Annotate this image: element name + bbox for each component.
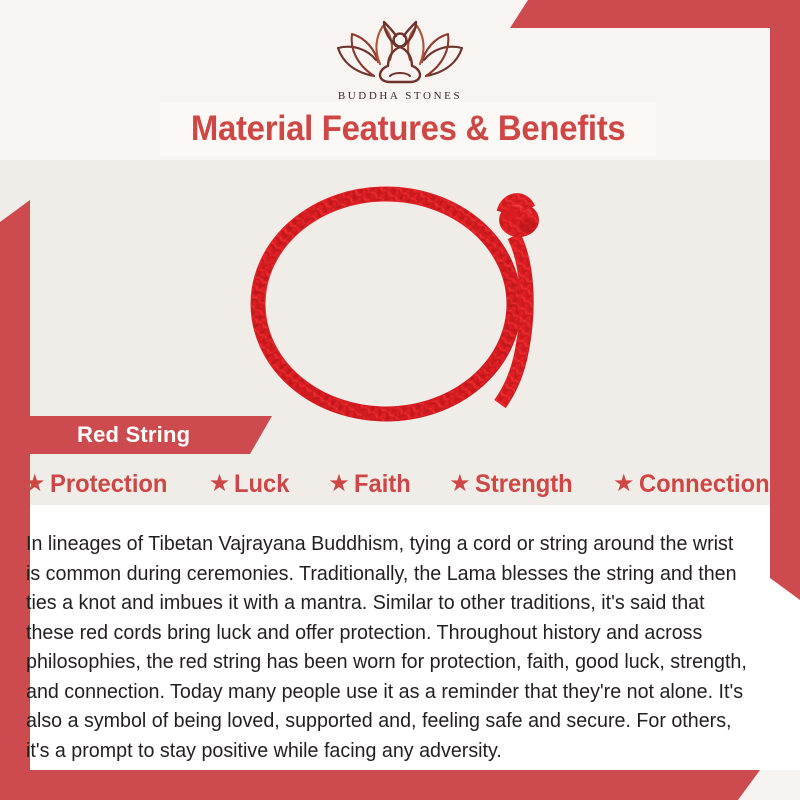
benefit-item: ★ Luck	[209, 472, 293, 497]
benefit-label: Connection	[639, 472, 770, 497]
star-icon: ★	[328, 472, 350, 496]
material-features-poster: BUDDHA STONES Material Features & Benefi…	[0, 0, 800, 800]
benefit-label: Faith	[354, 472, 411, 497]
benefits-list: ★ Protection ★ Luck ★ Faith ★ Strength ★…	[24, 466, 776, 502]
brand-logo: BUDDHA STONES	[0, 14, 800, 102]
benefit-label: Protection	[50, 472, 167, 497]
benefit-label: Luck	[234, 472, 289, 497]
benefit-item: ★ Strength	[449, 472, 577, 497]
product-image-red-string-bracelet	[214, 168, 584, 426]
lotus-meditation-icon	[334, 14, 466, 88]
page-title: Material Features & Benefits	[191, 109, 626, 149]
material-label: Red String	[77, 422, 190, 448]
star-icon: ★	[449, 472, 471, 496]
decor-band-bottom	[0, 770, 760, 800]
star-icon: ★	[613, 472, 635, 496]
material-label-banner: Red String	[22, 416, 272, 454]
title-band: Material Features & Benefits	[160, 102, 656, 156]
brand-name: BUDDHA STONES	[338, 90, 462, 102]
star-icon: ★	[24, 472, 46, 496]
benefit-item: ★ Protection	[24, 472, 173, 497]
star-icon: ★	[209, 472, 231, 496]
description-paragraph: In lineages of Tibetan Vajrayana Buddhis…	[26, 530, 748, 766]
benefit-item: ★ Connection	[613, 472, 776, 497]
benefit-item: ★ Faith	[328, 472, 413, 497]
benefit-label: Strength	[475, 472, 573, 497]
